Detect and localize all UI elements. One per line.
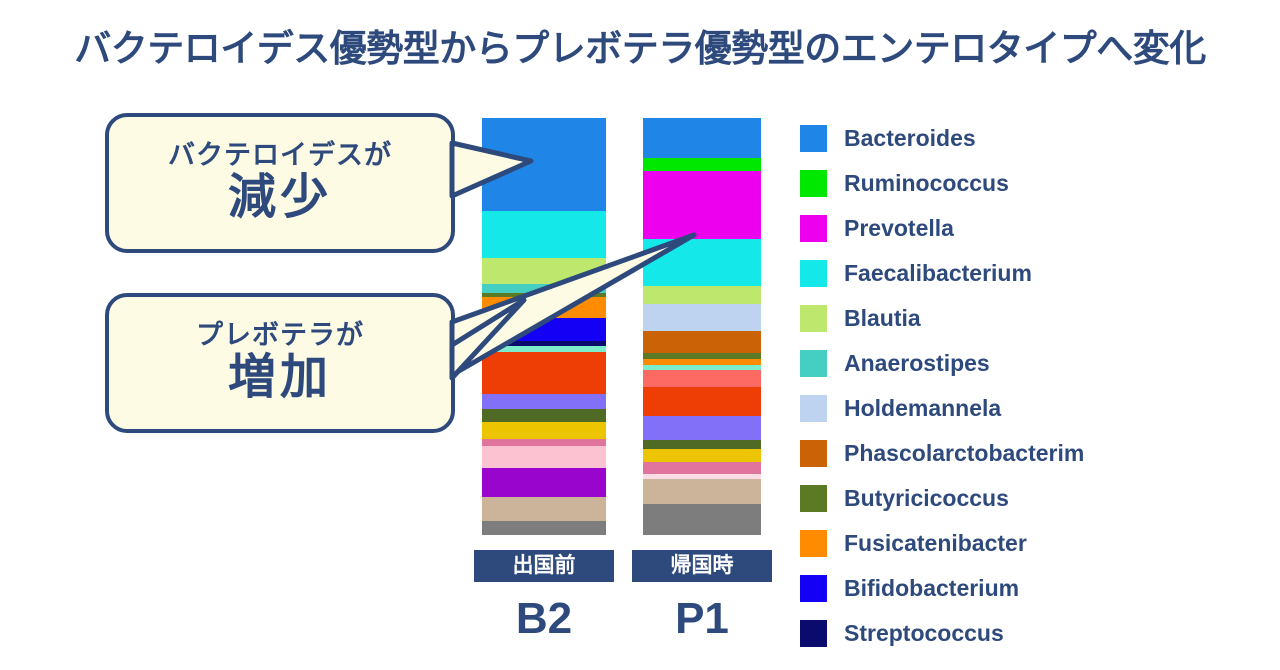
- legend-item-bifidobacterium[interactable]: Bifidobacterium: [800, 566, 1270, 611]
- bar-segment-other-orangered[interactable]: [643, 387, 761, 416]
- legend-swatch-icon: [800, 215, 827, 242]
- stacked-bar-p1[interactable]: [643, 118, 761, 535]
- legend-label: Blautia: [844, 305, 921, 332]
- bar-segment-other-rose[interactable]: [482, 439, 606, 446]
- bar-segment-bacteroides[interactable]: [643, 118, 761, 158]
- bar-segment-other-salmon[interactable]: [643, 370, 761, 387]
- callout-line1: バクテロイデスが: [168, 141, 392, 169]
- legend-item-blautia[interactable]: Blautia: [800, 296, 1270, 341]
- bar-segment-anaerostipes[interactable]: [482, 284, 606, 293]
- bar-column-p1: [643, 118, 761, 535]
- bar-segment-fusicatenibacter[interactable]: [482, 297, 606, 318]
- legend-label: Fusicatenibacter: [844, 530, 1027, 557]
- legend-item-phascolarctobacterim[interactable]: Phascolarctobacterim: [800, 431, 1270, 476]
- legend-item-anaerostipes[interactable]: Anaerostipes: [800, 341, 1270, 386]
- legend-item-holdemannela[interactable]: Holdemannela: [800, 386, 1270, 431]
- bar-segment-other-periwinkle[interactable]: [643, 416, 761, 440]
- legend-swatch-icon: [800, 260, 827, 287]
- callout-line1: プレボテラが: [196, 321, 364, 349]
- group-label-p1: P1: [632, 594, 772, 644]
- legend-label: Faecalibacterium: [844, 260, 1032, 287]
- callout-bacteroides-decrease[interactable]: バクテロイデスが 減少: [105, 113, 455, 253]
- bar-segment-other-gold[interactable]: [482, 422, 606, 439]
- legend-label: Butyricicoccus: [844, 485, 1009, 512]
- bar-segment-other-tan[interactable]: [643, 479, 761, 503]
- legend-swatch-icon: [800, 350, 827, 377]
- legend-label: Bacteroides: [844, 125, 976, 152]
- bar-segment-ruminococcus[interactable]: [643, 158, 761, 171]
- legend-swatch-icon: [800, 125, 827, 152]
- legend-swatch-icon: [800, 170, 827, 197]
- bar-segment-other-rose[interactable]: [643, 462, 761, 475]
- bar-segment-other-purple[interactable]: [482, 468, 606, 497]
- legend-label: Phascolarctobacterim: [844, 440, 1084, 467]
- legend-item-butyricicoccus[interactable]: Butyricicoccus: [800, 476, 1270, 521]
- axis-label-b2: 出国前: [474, 550, 614, 582]
- bar-segment-prevotella[interactable]: [643, 171, 761, 239]
- bar-segment-blautia[interactable]: [482, 258, 606, 284]
- legend-item-faecalibacterium[interactable]: Faecalibacterium: [800, 251, 1270, 296]
- legend-item-bacteroides[interactable]: Bacteroides: [800, 116, 1270, 161]
- bar-segment-butyricicoccus[interactable]: [482, 409, 606, 422]
- legend: BacteroidesRuminococcusPrevotellaFaecali…: [800, 116, 1270, 656]
- legend-swatch-icon: [800, 575, 827, 602]
- legend-swatch-icon: [800, 305, 827, 332]
- group-label-b2: B2: [474, 594, 614, 644]
- bar-segment-other-orangered[interactable]: [482, 352, 606, 394]
- legend-label: Streptococcus: [844, 620, 1004, 647]
- callout-line2: 増加: [228, 352, 332, 405]
- legend-item-ruminococcus[interactable]: Ruminococcus: [800, 161, 1270, 206]
- page-title: バクテロイデス優勢型からプレボテラ優勢型のエンテロタイプへ変化: [0, 18, 1280, 72]
- bar-segment-other-gray[interactable]: [643, 504, 761, 535]
- bar-segment-faecalibacterium[interactable]: [482, 211, 606, 258]
- bar-segment-blautia[interactable]: [643, 286, 761, 304]
- bar-segment-faecalibacterium[interactable]: [643, 239, 761, 287]
- stacked-bar-b2[interactable]: [482, 118, 606, 535]
- bar-segment-other-gold[interactable]: [643, 449, 761, 461]
- bar-segment-bifidobacterium[interactable]: [482, 318, 606, 341]
- bar-column-b2: [482, 118, 606, 535]
- callout-line2: 減少: [228, 172, 332, 225]
- bar-segment-other-gray[interactable]: [482, 521, 606, 535]
- legend-swatch-icon: [800, 530, 827, 557]
- axis-label-p1: 帰国時: [632, 550, 772, 582]
- bar-segment-other-periwinkle[interactable]: [482, 394, 606, 409]
- bar-segment-holdemannela[interactable]: [643, 304, 761, 330]
- legend-swatch-icon: [800, 620, 827, 647]
- callout-prevotella-increase[interactable]: プレボテラが 増加: [105, 293, 455, 433]
- legend-item-streptococcus[interactable]: Streptococcus: [800, 611, 1270, 656]
- legend-label: Holdemannela: [844, 395, 1001, 422]
- legend-label: Ruminococcus: [844, 170, 1009, 197]
- bar-segment-bacteroides[interactable]: [482, 118, 606, 211]
- bar-segment-butyricicoccus[interactable]: [643, 440, 761, 449]
- bar-segment-other-tan[interactable]: [482, 497, 606, 520]
- legend-item-prevotella[interactable]: Prevotella: [800, 206, 1270, 251]
- legend-swatch-icon: [800, 485, 827, 512]
- legend-label: Prevotella: [844, 215, 954, 242]
- legend-item-fusicatenibacter[interactable]: Fusicatenibacter: [800, 521, 1270, 566]
- legend-swatch-icon: [800, 440, 827, 467]
- legend-swatch-icon: [800, 395, 827, 422]
- legend-label: Anaerostipes: [844, 350, 990, 377]
- bar-segment-phascolarctobacterim[interactable]: [643, 331, 761, 353]
- bar-segment-other-pink[interactable]: [482, 446, 606, 468]
- legend-label: Bifidobacterium: [844, 575, 1019, 602]
